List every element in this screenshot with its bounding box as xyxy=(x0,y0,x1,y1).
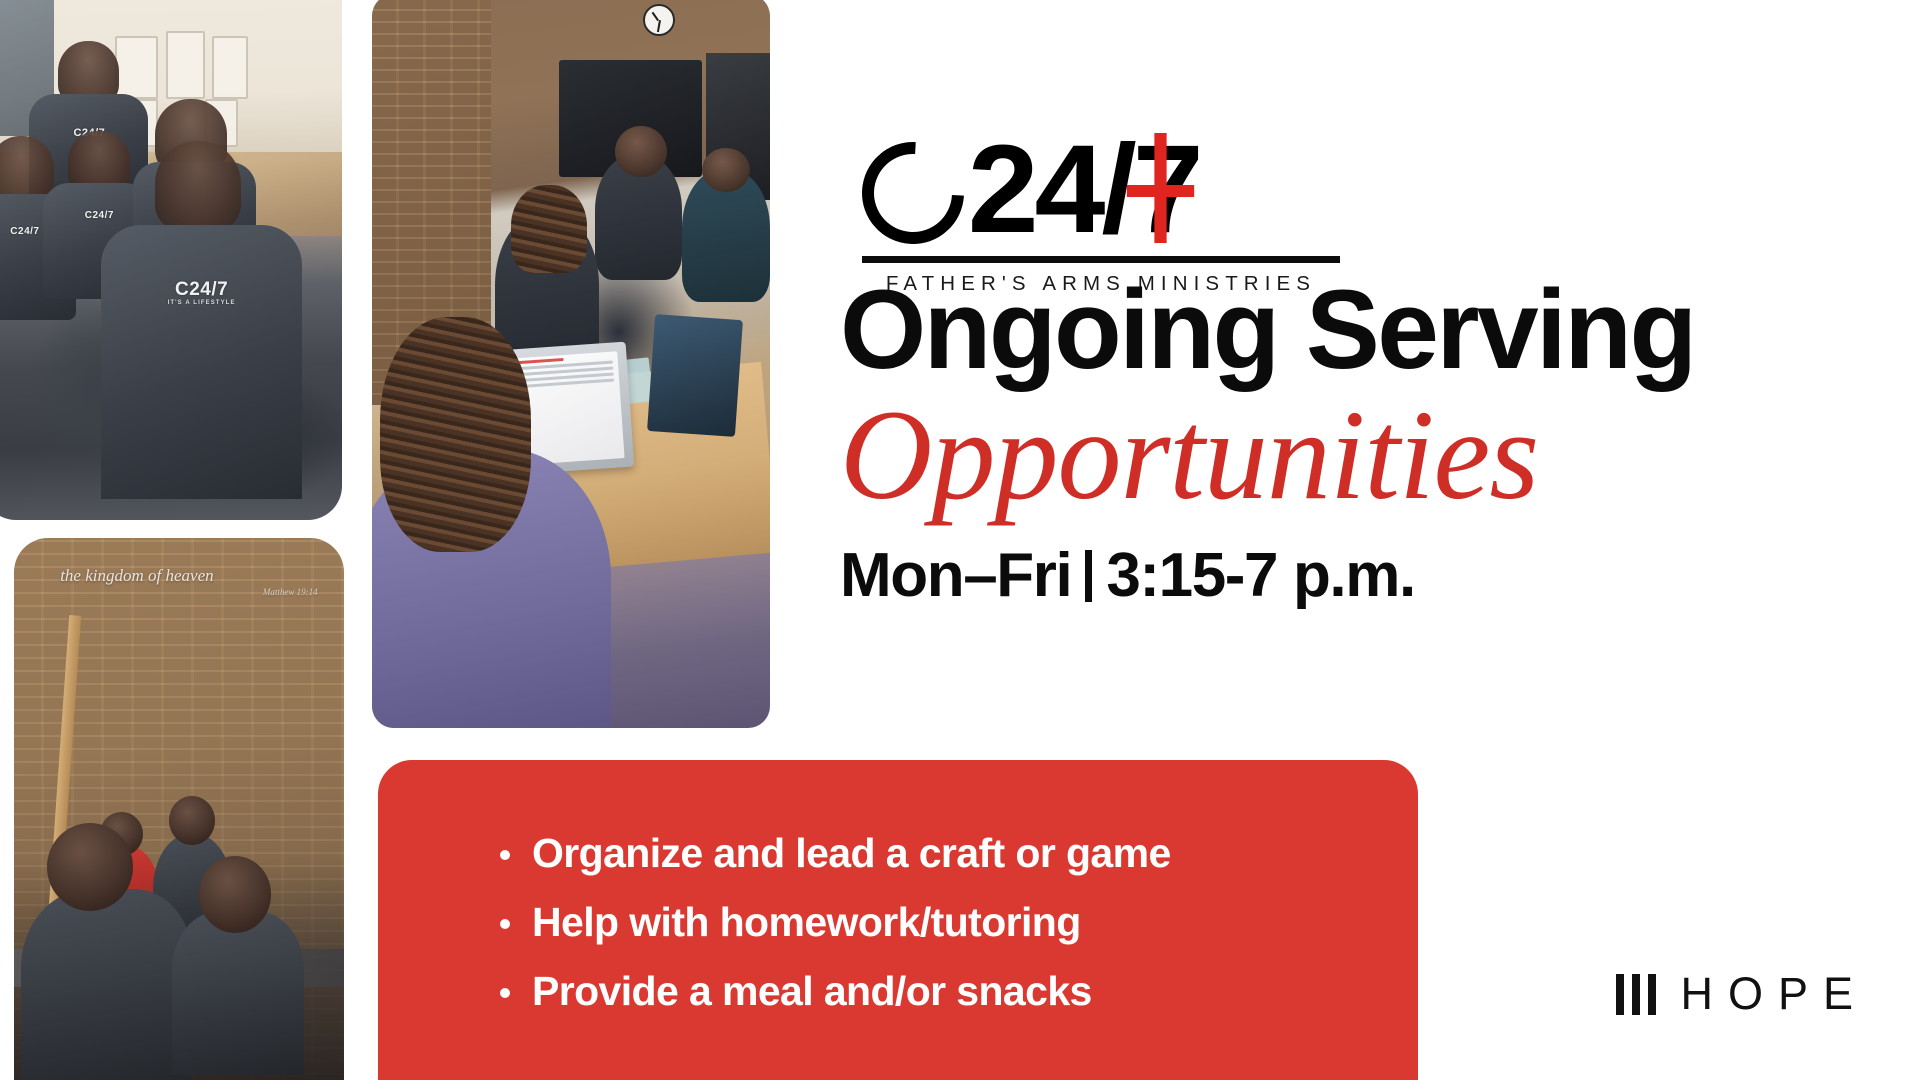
person-hair xyxy=(511,185,587,273)
wall-verse: the kingdom of heaven Matthew 19:14 xyxy=(60,565,317,598)
person-shirt-front: C24/7 IT'S A LIFESTYLE xyxy=(101,225,303,499)
student-head xyxy=(199,856,272,933)
headline-block: Ongoing Serving Opportunities Mon–Fri3:1… xyxy=(840,276,1900,611)
bar-3 xyxy=(1648,974,1656,1015)
tablet-device xyxy=(647,314,743,437)
wall-frame xyxy=(166,31,206,99)
schedule-time: 3:15-7 p.m. xyxy=(1106,541,1415,610)
schedule-divider xyxy=(1085,550,1092,602)
mentor-head xyxy=(47,823,133,911)
wall-verse-text: the kingdom of heaven xyxy=(60,566,213,585)
bar-2 xyxy=(1632,974,1640,1015)
hope-logo: HOPE xyxy=(1616,968,1868,1020)
person-head xyxy=(702,148,750,192)
opportunities-list: Organize and lead a craft or game Help w… xyxy=(498,828,1418,1016)
headline-line-1: Ongoing Serving xyxy=(840,276,1889,384)
person-head xyxy=(169,796,215,845)
wall-clock-icon xyxy=(643,4,675,36)
hope-wordmark: HOPE xyxy=(1680,968,1868,1020)
photo-bottomleft: the kingdom of heaven Matthew 19:14 xyxy=(14,538,344,1080)
logo-number-24: 24 xyxy=(968,120,1102,259)
wall-frame xyxy=(115,36,158,99)
bar-1 xyxy=(1616,974,1624,1015)
tee-logo-subtext: IT'S A LIFESTYLE xyxy=(133,300,270,306)
c247-logo-row: 24/7 xyxy=(862,128,1340,252)
list-item: Provide a meal and/or snacks xyxy=(498,966,1418,1016)
tee-logo-label: C24/7 xyxy=(67,211,132,222)
schedule-line: Mon–Fri3:15-7 p.m. xyxy=(840,540,1900,611)
tee-logo-text: C24/7 xyxy=(175,279,228,300)
photo-center xyxy=(372,0,770,728)
wall-frame xyxy=(212,36,248,99)
schedule-days: Mon–Fri xyxy=(840,541,1071,610)
three-bars-icon xyxy=(1616,974,1664,1015)
c247-numerals: 24/7 xyxy=(968,127,1200,252)
wall-verse-reference: Matthew 19:14 xyxy=(60,587,317,598)
c-letter-icon xyxy=(841,121,985,265)
list-item: Organize and lead a craft or game xyxy=(498,828,1418,878)
mentor-figure xyxy=(21,889,193,1080)
person-head-front xyxy=(155,141,241,230)
person-head xyxy=(615,126,667,177)
volunteer-hair xyxy=(380,317,531,552)
student-figure xyxy=(172,911,304,1075)
tee-logo-label: C24/7 IT'S A LIFESTYLE xyxy=(133,280,270,306)
opportunities-panel: Organize and lead a craft or game Help w… xyxy=(378,760,1418,1080)
flyer-canvas: C24/7 C24/7 C24/7 C24/7 IT'S A LIFESTYLE… xyxy=(0,0,1920,1080)
headline-line-2: Opportunities xyxy=(840,390,1900,521)
list-item: Help with homework/tutoring xyxy=(498,897,1418,947)
logo-number-slash7: /7 xyxy=(1101,120,1199,259)
photo-topleft: C24/7 C24/7 C24/7 C24/7 IT'S A LIFESTYLE xyxy=(0,0,342,520)
